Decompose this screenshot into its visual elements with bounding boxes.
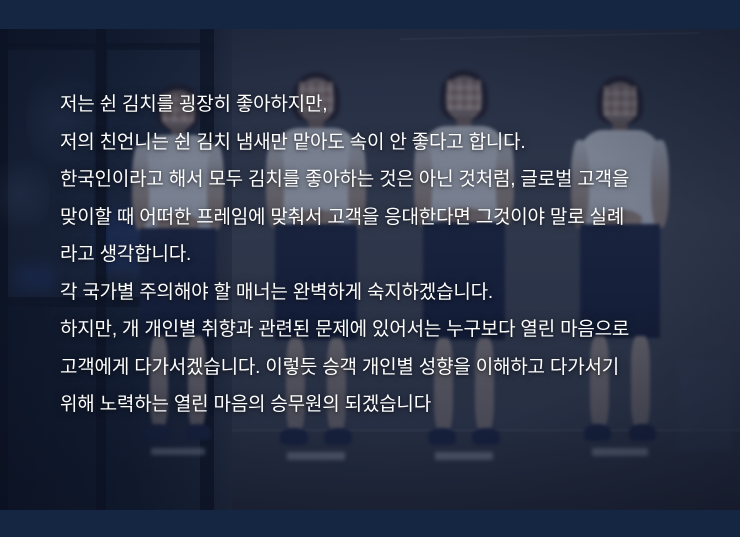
- caption-line-6: 각 국가별 주의해야 할 매너는 완벽하게 숙지하겠습니다.: [60, 274, 724, 312]
- video-caption-slide: 저는 쉰 김치를 굉장히 좋아하지만, 저의 친언니는 쉰 김치 냄새만 맡아도…: [0, 0, 740, 537]
- caption-line-5: 라고 생각합니다.: [60, 236, 724, 274]
- shoe-left: [280, 428, 308, 445]
- caption-line-7: 하지만, 개 개인별 취향과 관련된 문제에 있어서는 누구보다 열린 마음으로: [60, 311, 724, 349]
- letterbox-bar-top: [0, 0, 740, 29]
- caption-line-9: 위해 노력하는 열린 마음의 승무원의 되겠습니다: [60, 386, 724, 424]
- shoe-right: [472, 428, 500, 445]
- caption-line-1: 저는 쉰 김치를 굉장히 좋아하지만,: [60, 86, 724, 124]
- letterbox-bar-bottom: [0, 510, 740, 537]
- floor-marker: [435, 452, 493, 460]
- caption-line-3: 한국인이라고 해서 모두 김치를 좋아하는 것은 아닌 것처럼, 글로벌 고객을: [60, 161, 724, 199]
- blue-reflection: [14, 265, 54, 291]
- caption-line-4: 맞이할 때 어떠한 프레임에 맞춰서 고객을 응대한다면 그것이야 말로 실례: [60, 199, 724, 237]
- shoe-right: [185, 424, 211, 440]
- floor-marker: [151, 448, 205, 455]
- shoe-left: [428, 428, 456, 445]
- floor-marker: [592, 448, 648, 456]
- caption-line-8: 고객에게 다가서겠습니다. 이렇듯 승객 개인별 성향을 이해하고 다가서기: [60, 349, 724, 387]
- shoe-right: [629, 424, 656, 441]
- door-frame-horizontal: [0, 43, 214, 50]
- caption-text-block: 저는 쉰 김치를 굉장히 좋아하지만, 저의 친언니는 쉰 김치 냄새만 맡아도…: [60, 86, 724, 424]
- floor-marker: [287, 452, 345, 460]
- shoe-left: [584, 424, 611, 441]
- shoe-left: [145, 424, 171, 440]
- door-frame-vertical: [0, 29, 8, 510]
- caption-line-2: 저의 친언니는 쉰 김치 냄새만 맡아도 속이 안 좋다고 합니다.: [60, 124, 724, 162]
- shoe-right: [324, 428, 352, 445]
